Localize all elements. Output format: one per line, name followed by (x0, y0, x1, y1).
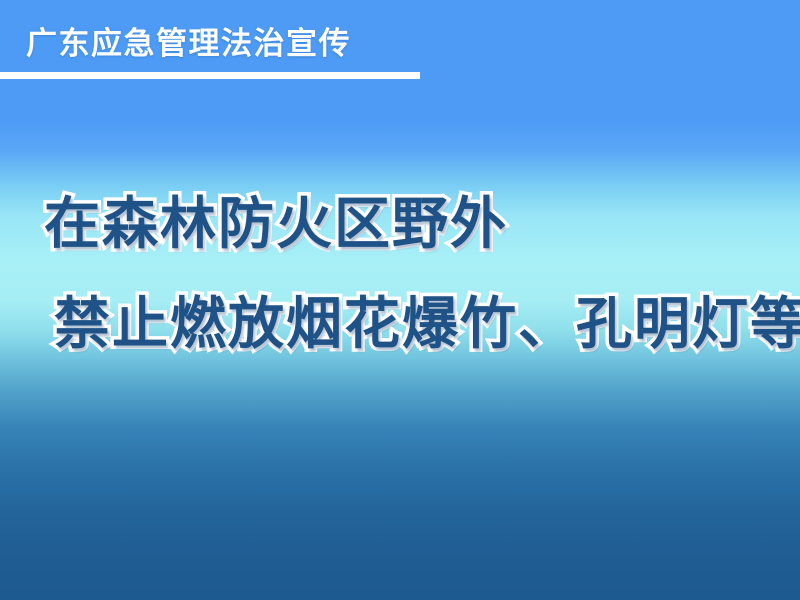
poster-canvas: 广东应急管理法治宣传 在森林防火区野外 禁止燃放烟花爆竹、孔明灯等 (0, 0, 800, 600)
page-title: 广东应急管理法治宣传 (26, 28, 351, 59)
headline-block: 在森林防火区野外 禁止燃放烟花爆竹、孔明灯等 (0, 196, 800, 352)
headline-line-1: 在森林防火区野外 (0, 196, 800, 252)
header-band: 广东应急管理法治宣传 (0, 0, 800, 84)
header-underline-divider (0, 72, 420, 79)
headline-line-2: 禁止燃放烟花爆竹、孔明灯等 (0, 296, 800, 352)
